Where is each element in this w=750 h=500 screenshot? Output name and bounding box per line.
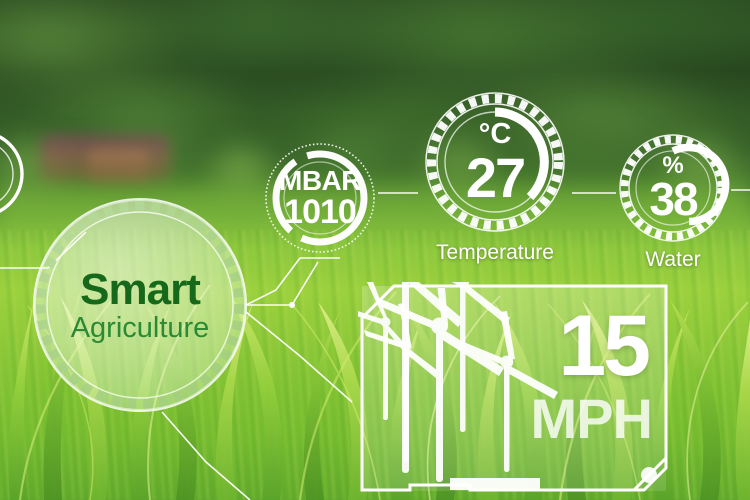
gauge-temperature-unit: °C: [479, 120, 512, 149]
gauge-pressure-value: 1010: [284, 196, 356, 228]
gauge-water[interactable]: % 38 Water: [615, 130, 731, 246]
gauge-temperature[interactable]: °C 27 Temperature: [420, 87, 570, 237]
wind-speed-unit: MPH: [531, 394, 652, 444]
wind-speed-value: 15: [558, 308, 648, 385]
gauge-water-label: Water: [645, 248, 700, 272]
gauge-temperature-value: 27: [466, 151, 524, 204]
gauge-pressure-unit: MBAR: [279, 167, 361, 195]
gauge-water-value: 38: [649, 178, 696, 222]
smart-agriculture-badge[interactable]: Smart Agriculture: [35, 200, 245, 410]
brand-title-line1: Smart: [80, 268, 200, 312]
brand-title-line2: Agriculture: [71, 314, 210, 343]
wind-speed-panel[interactable]: 15 MPH: [358, 282, 670, 495]
gauge-temperature-label: Temperature: [436, 241, 554, 265]
gauge-pressure[interactable]: MBAR 1010: [262, 140, 378, 256]
dashboard-scene: Smart Agriculture MBAR 1010 °C 27 Temper…: [0, 0, 750, 500]
